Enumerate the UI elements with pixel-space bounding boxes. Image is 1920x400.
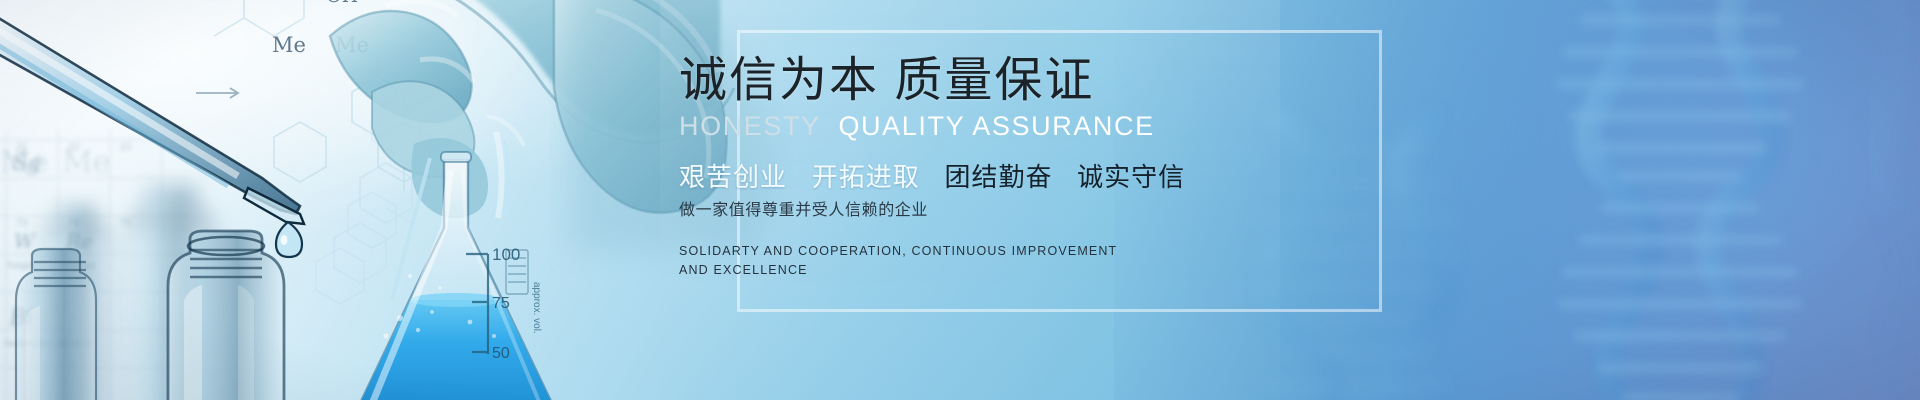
headline-english-quality: QUALITY ASSURANCE — [838, 111, 1154, 141]
slogan-part-4: 诚实守信 — [1077, 162, 1185, 192]
erlenmeyer-flask: 100 75 50 approx. vol. — [352, 152, 560, 400]
slogan-part-3: 团结勤奋 — [944, 162, 1052, 192]
slogan-english: SOLIDARTY AND COOPERATION, CONTINUOUS IM… — [679, 242, 1379, 278]
slogan-chinese-sub: 做一家值得尊重并受人信赖的企业 — [679, 201, 1379, 222]
svg-text:23: 23 — [119, 143, 132, 153]
headline-english: HONESTY QUALITY ASSURANCE — [679, 111, 1379, 141]
slogan-english-line-1: SOLIDARTY AND COOPERATION, CONTINUOUS IM… — [679, 242, 1379, 260]
flask-vol-label: approx. vol. — [531, 282, 542, 334]
me-label-left: Me — [272, 33, 306, 57]
slogan-part-1: 艰苦创业 — [679, 162, 787, 192]
svg-text:73: 73 — [16, 219, 28, 229]
glass-bottle-front-right — [168, 231, 284, 400]
o-label: O — [298, 0, 314, 1]
oh-label: OH — [326, 0, 358, 7]
slogan-english-line-2: AND EXCELLENCE — [679, 261, 1379, 279]
svg-text:Me: Me — [0, 145, 48, 180]
headline-english-honesty: HONESTY — [679, 111, 820, 141]
headline-chinese: 诚信为本 质量保证 — [679, 56, 1379, 107]
slogan-line: 艰苦创业 开拓进取 团结勤奋 诚实守信 — [679, 161, 1379, 194]
slogan-part-2: 开拓进取 — [812, 162, 920, 192]
hero-banner: Sg W Re Bi 21 22 23 73 74 75 Tungsten Rh… — [0, 0, 1920, 400]
banner-text-block: 诚信为本 质量保证 HONESTY QUALITY ASSURANCE 艰苦创业… — [679, 56, 1379, 279]
svg-text:W: W — [14, 229, 36, 253]
droplet — [276, 222, 302, 257]
graduation-75-label: 75 — [492, 295, 510, 312]
pour-stream — [496, 132, 509, 218]
svg-text:Me: Me — [62, 145, 110, 180]
graduation-50-label: 50 — [492, 345, 510, 362]
reaction-arrow — [196, 88, 238, 98]
